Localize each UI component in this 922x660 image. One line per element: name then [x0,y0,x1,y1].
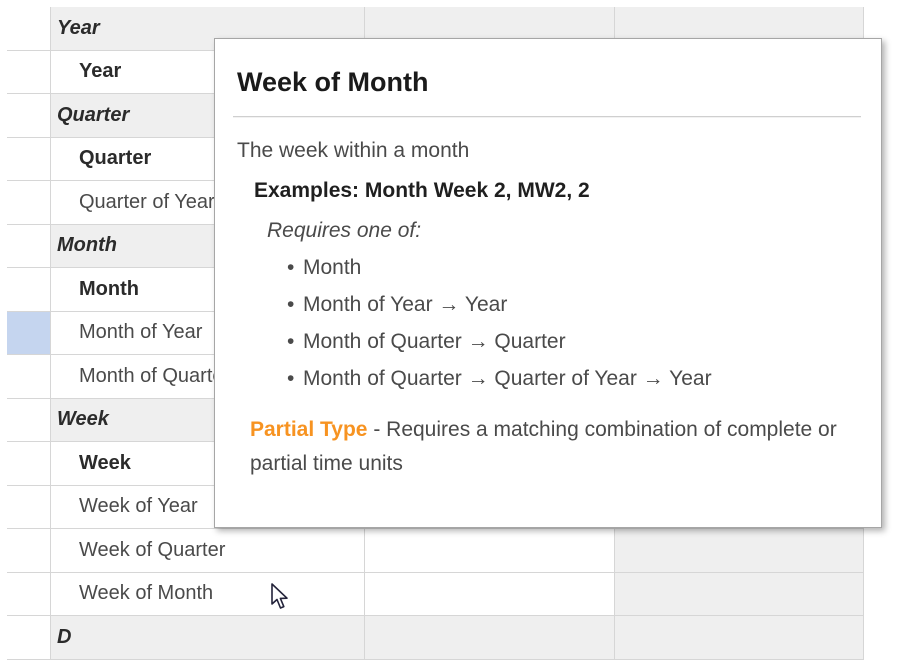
row-selection-indicator[interactable] [7,312,51,355]
tooltip-popup-week-of-month: Week of Month The week within a month Ex… [214,38,882,528]
popup-partial-type-note: Partial Type - Requires a matching combi… [237,413,861,481]
requires-option-item: Month of Quarter → Quarter of Year → Yea… [287,360,861,397]
popup-description: The week within a month [237,139,861,163]
table-cell-right[interactable] [615,616,864,659]
row-gutter-cell[interactable] [7,486,51,529]
table-cell-name[interactable]: Week of Month [51,573,365,616]
row-gutter-cell[interactable] [7,181,51,224]
row-gutter-cell[interactable] [7,138,51,181]
table-row[interactable]: Week of Month [7,573,864,617]
table-cell-middle[interactable] [365,529,615,572]
table-cell-name[interactable]: Week of Quarter [51,529,365,572]
row-gutter-cell[interactable] [7,7,51,50]
popup-examples: Examples: Month Week 2, MW2, 2 [237,179,861,203]
popup-body: The week within a month Examples: Month … [215,139,881,481]
row-gutter-cell[interactable] [7,399,51,442]
table-row[interactable]: Week of Quarter [7,529,864,573]
requires-option-item: Month of Quarter → Quarter [287,323,861,360]
partial-type-label: Partial Type [250,418,368,441]
requires-option-item: Month of Year → Year [287,286,861,323]
table-row[interactable]: D [7,616,864,660]
row-gutter-cell[interactable] [7,573,51,616]
table-cell-middle[interactable] [365,573,615,616]
table-cell-right[interactable] [615,529,864,572]
popup-requires-label: Requires one of: [237,219,861,243]
requires-option-item: Month [287,249,861,286]
popup-title: Week of Month [215,39,881,98]
popup-requires-list: MonthMonth of Year → YearMonth of Quarte… [237,249,861,397]
row-gutter-cell[interactable] [7,442,51,485]
row-gutter-cell[interactable] [7,94,51,137]
popup-divider [233,116,861,117]
row-gutter-cell[interactable] [7,51,51,94]
row-gutter-cell[interactable] [7,268,51,311]
table-cell-middle[interactable] [365,616,615,659]
table-cell-right[interactable] [615,573,864,616]
row-gutter-cell[interactable] [7,355,51,398]
row-gutter-cell[interactable] [7,529,51,572]
row-gutter-cell[interactable] [7,225,51,268]
table-cell-name[interactable]: D [51,616,365,659]
row-gutter-cell[interactable] [7,616,51,659]
